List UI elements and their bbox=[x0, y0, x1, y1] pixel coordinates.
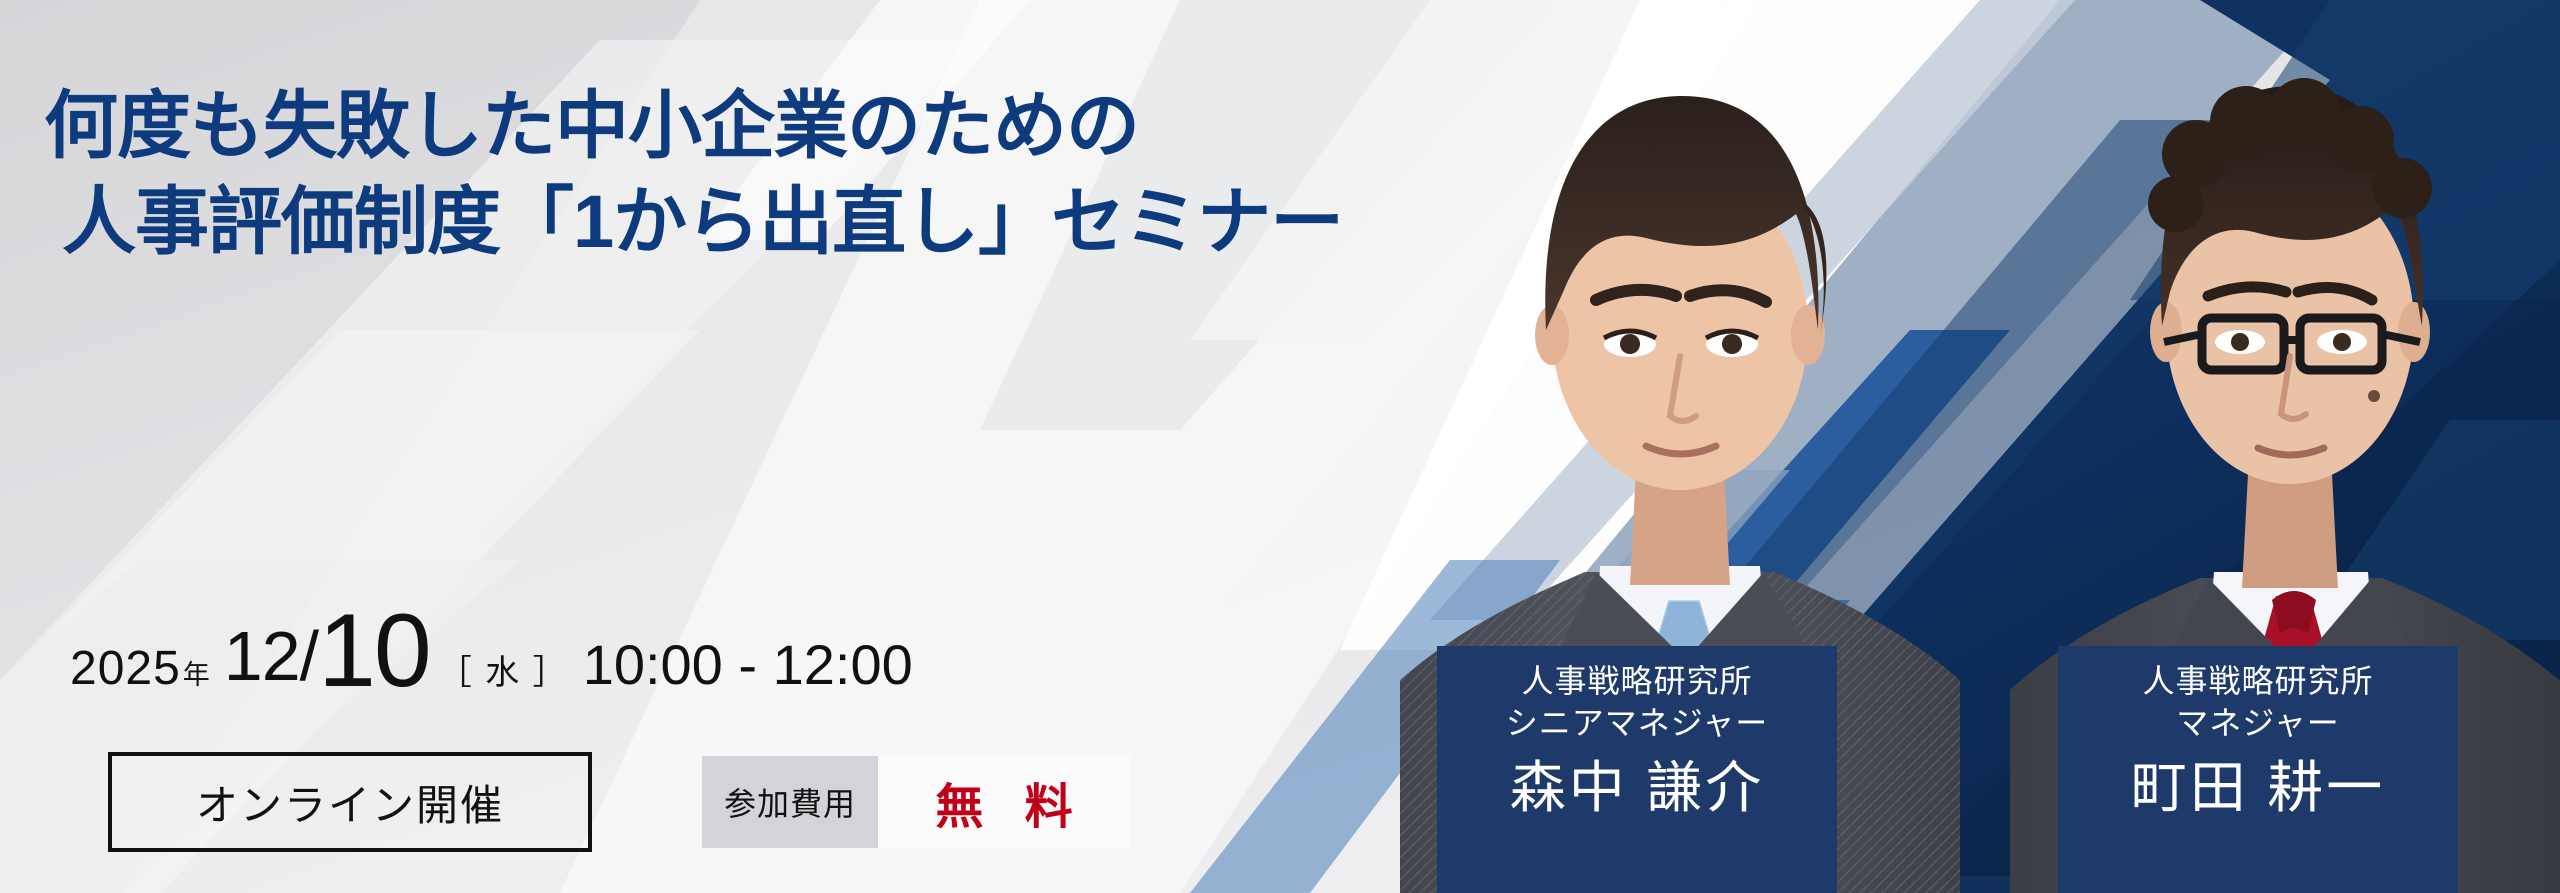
title-line-1: 何度も失敗した中小企業のための bbox=[44, 78, 1343, 174]
speaker-2-nameplate: 人事戦略研究所 マネジャー 町田 耕一 bbox=[2058, 646, 2458, 893]
speaker-2-role: マネジャー bbox=[2058, 702, 2458, 744]
fee-label: 参加費用 bbox=[702, 756, 878, 848]
seminar-banner: 何度も失敗した中小企業のための 人事評価制度「1から出直し」セミナー 2025 … bbox=[0, 0, 2560, 893]
fee-value: 無 料 bbox=[878, 756, 1130, 848]
fee-badge: 参加費用 無 料 bbox=[702, 756, 1130, 848]
date-weekday: ［ 水 ］ bbox=[438, 645, 569, 694]
event-datetime: 2025 年 12/ 10 ［ 水 ］ 10:00 - 12:00 bbox=[70, 590, 913, 709]
speaker-1-role: シニアマネジャー bbox=[1437, 702, 1837, 744]
date-month: 12/ bbox=[224, 616, 318, 696]
speaker-1-org: 人事戦略研究所 bbox=[1437, 660, 1837, 702]
date-year-unit: 年 bbox=[183, 653, 210, 692]
title-line-2: 人事評価制度「1から出直し」セミナー bbox=[44, 174, 1343, 270]
speaker-1-name: 森中 謙介 bbox=[1437, 750, 1837, 826]
seminar-title: 何度も失敗した中小企業のための 人事評価制度「1から出直し」セミナー bbox=[44, 78, 1343, 270]
speaker-1-nameplate: 人事戦略研究所 シニアマネジャー 森中 謙介 bbox=[1437, 646, 1837, 893]
online-format-badge: オンライン開催 bbox=[108, 752, 592, 852]
badge-row: オンライン開催 参加費用 無 料 bbox=[108, 752, 1130, 852]
date-day: 10 bbox=[318, 592, 430, 711]
date-year: 2025 bbox=[70, 641, 181, 696]
speaker-2-name: 町田 耕一 bbox=[2058, 750, 2458, 826]
speaker-2-org: 人事戦略研究所 bbox=[2058, 660, 2458, 702]
date-time-range: 10:00 - 12:00 bbox=[583, 632, 913, 697]
